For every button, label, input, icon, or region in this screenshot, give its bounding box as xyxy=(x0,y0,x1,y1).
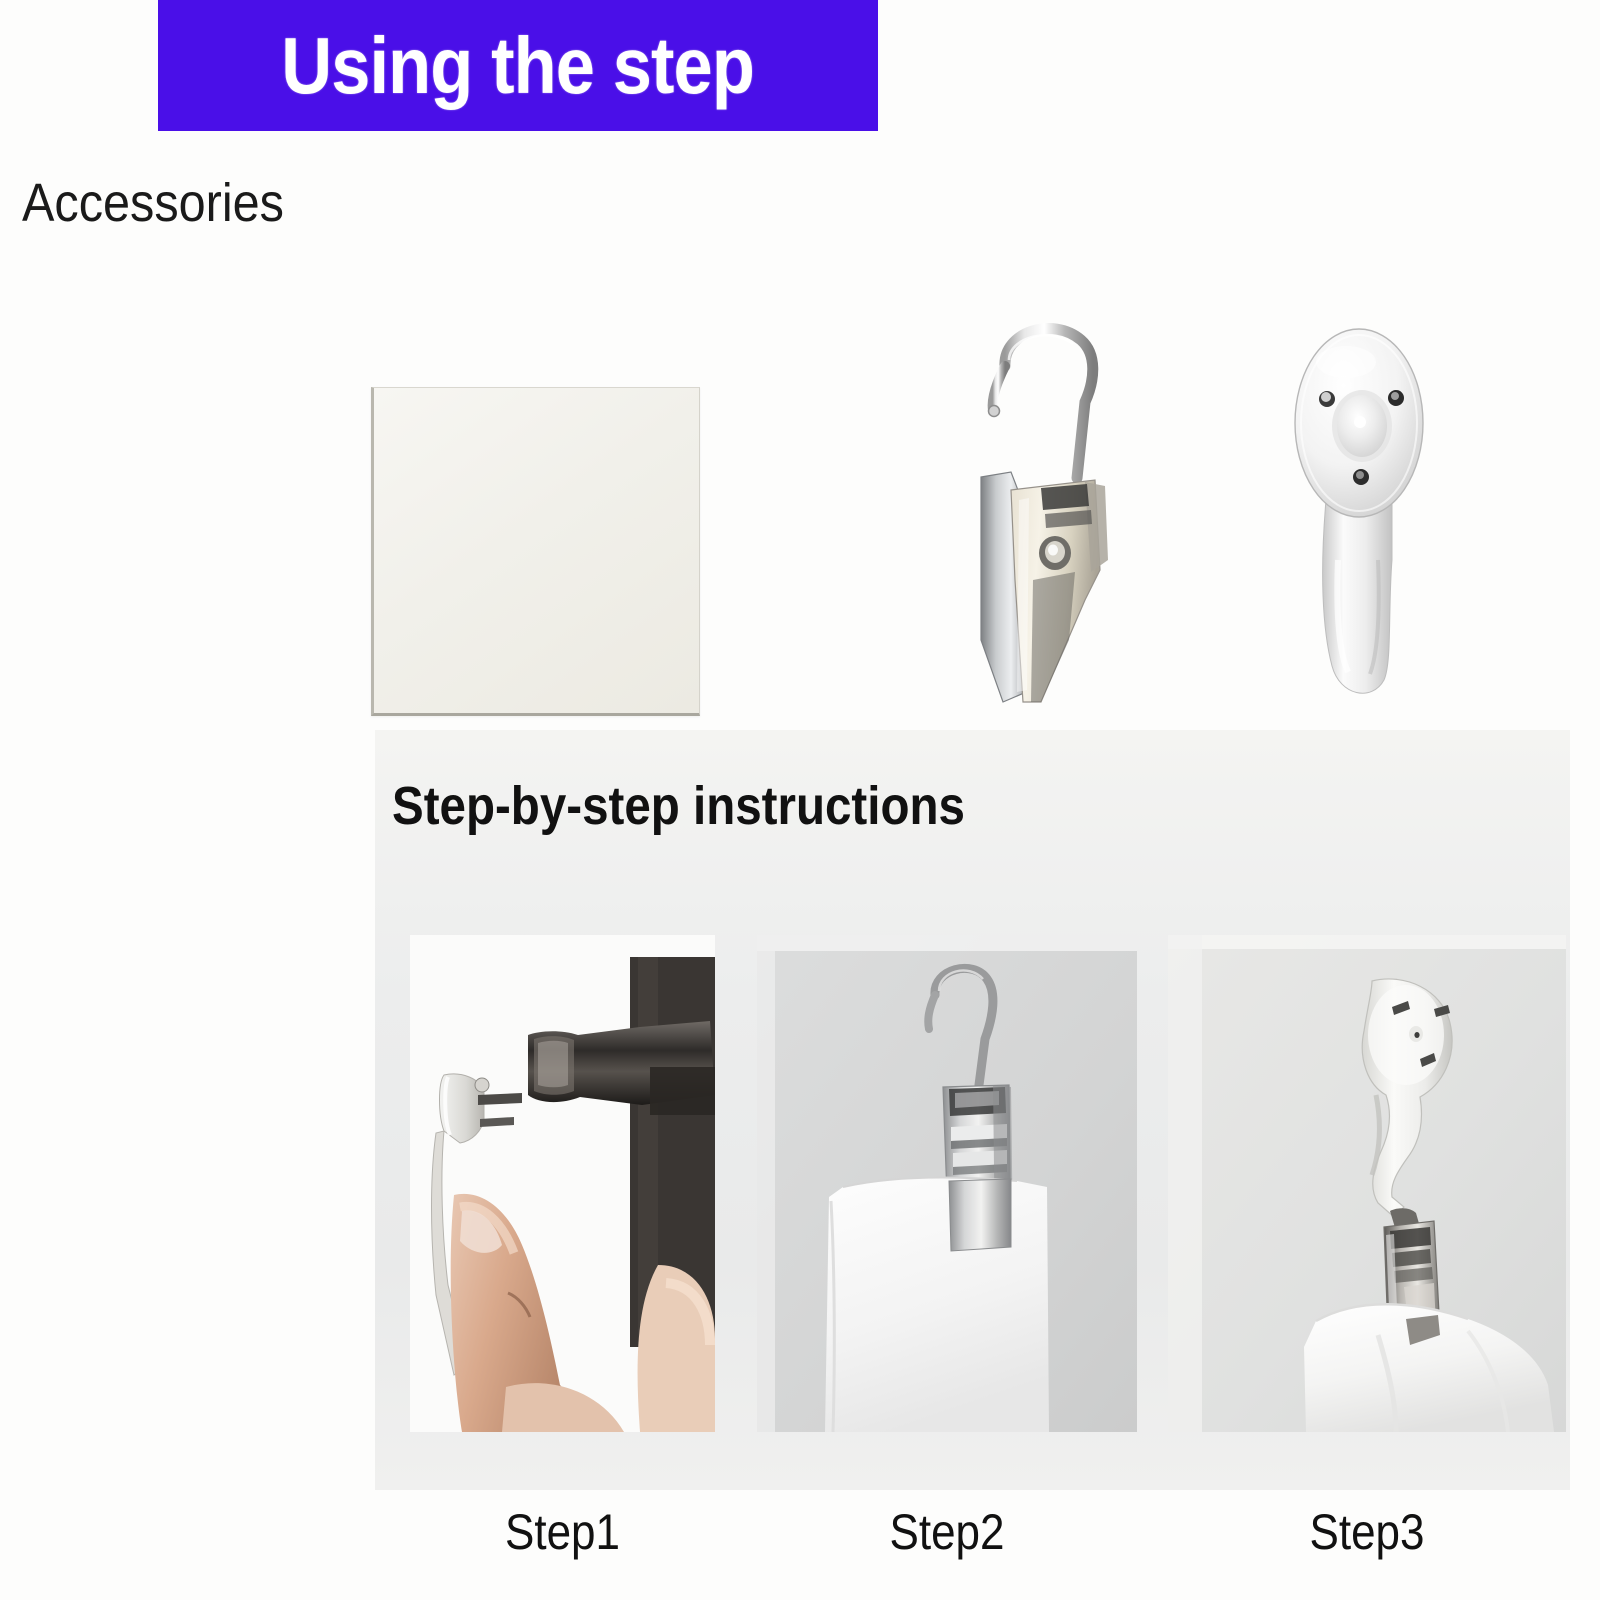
instructions-heading: Step-by-step instructions xyxy=(392,775,965,837)
step-label-1: Step1 xyxy=(428,1503,696,1561)
infographic-page: Using the step Accessories xyxy=(0,0,1600,1600)
step-photo-3 xyxy=(1168,935,1566,1432)
accessories-row: sticky 2 hangers 2 nails xyxy=(0,150,1600,670)
step-photo-2 xyxy=(757,935,1137,1432)
step-label-2: Step2 xyxy=(780,1503,1114,1561)
step-label-3: Step3 xyxy=(1192,1503,1542,1561)
page-title: Using the step xyxy=(282,26,755,106)
nail-hook-icon xyxy=(1280,310,1455,710)
header-banner: Using the step xyxy=(158,0,878,131)
sticky-pad-icon xyxy=(371,387,700,716)
hanger-clip-icon xyxy=(945,310,1145,710)
step-photo-1 xyxy=(410,935,715,1432)
